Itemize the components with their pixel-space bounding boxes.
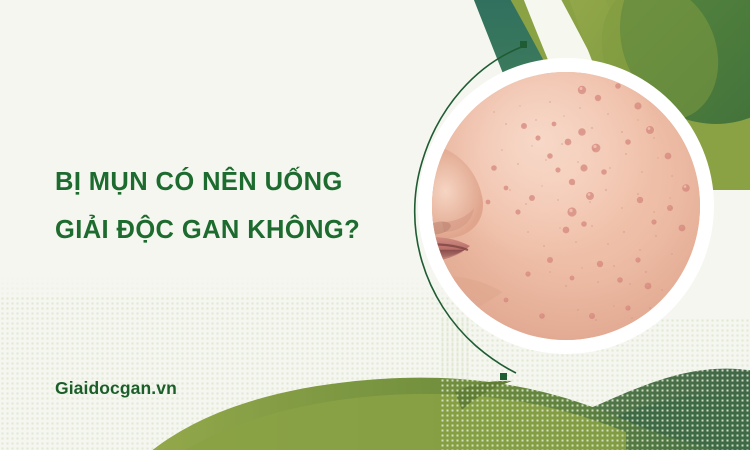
arc-marker-bottom-icon bbox=[500, 373, 507, 380]
headline-line-1: BỊ MỤN CÓ NÊN UỐNG bbox=[55, 158, 415, 206]
acne-skin-photo bbox=[432, 72, 700, 340]
arc-marker-top-icon bbox=[520, 41, 527, 48]
brand-name: Giaidocgan.vn bbox=[55, 378, 177, 399]
headline: BỊ MỤN CÓ NÊN UỐNG GIẢI ĐỘC GAN KHÔNG? bbox=[55, 158, 415, 254]
headline-line-2: GIẢI ĐỘC GAN KHÔNG? bbox=[55, 206, 415, 254]
promo-banner: BỊ MỤN CÓ NÊN UỐNG GIẢI ĐỘC GAN KHÔNG? G… bbox=[0, 0, 750, 450]
